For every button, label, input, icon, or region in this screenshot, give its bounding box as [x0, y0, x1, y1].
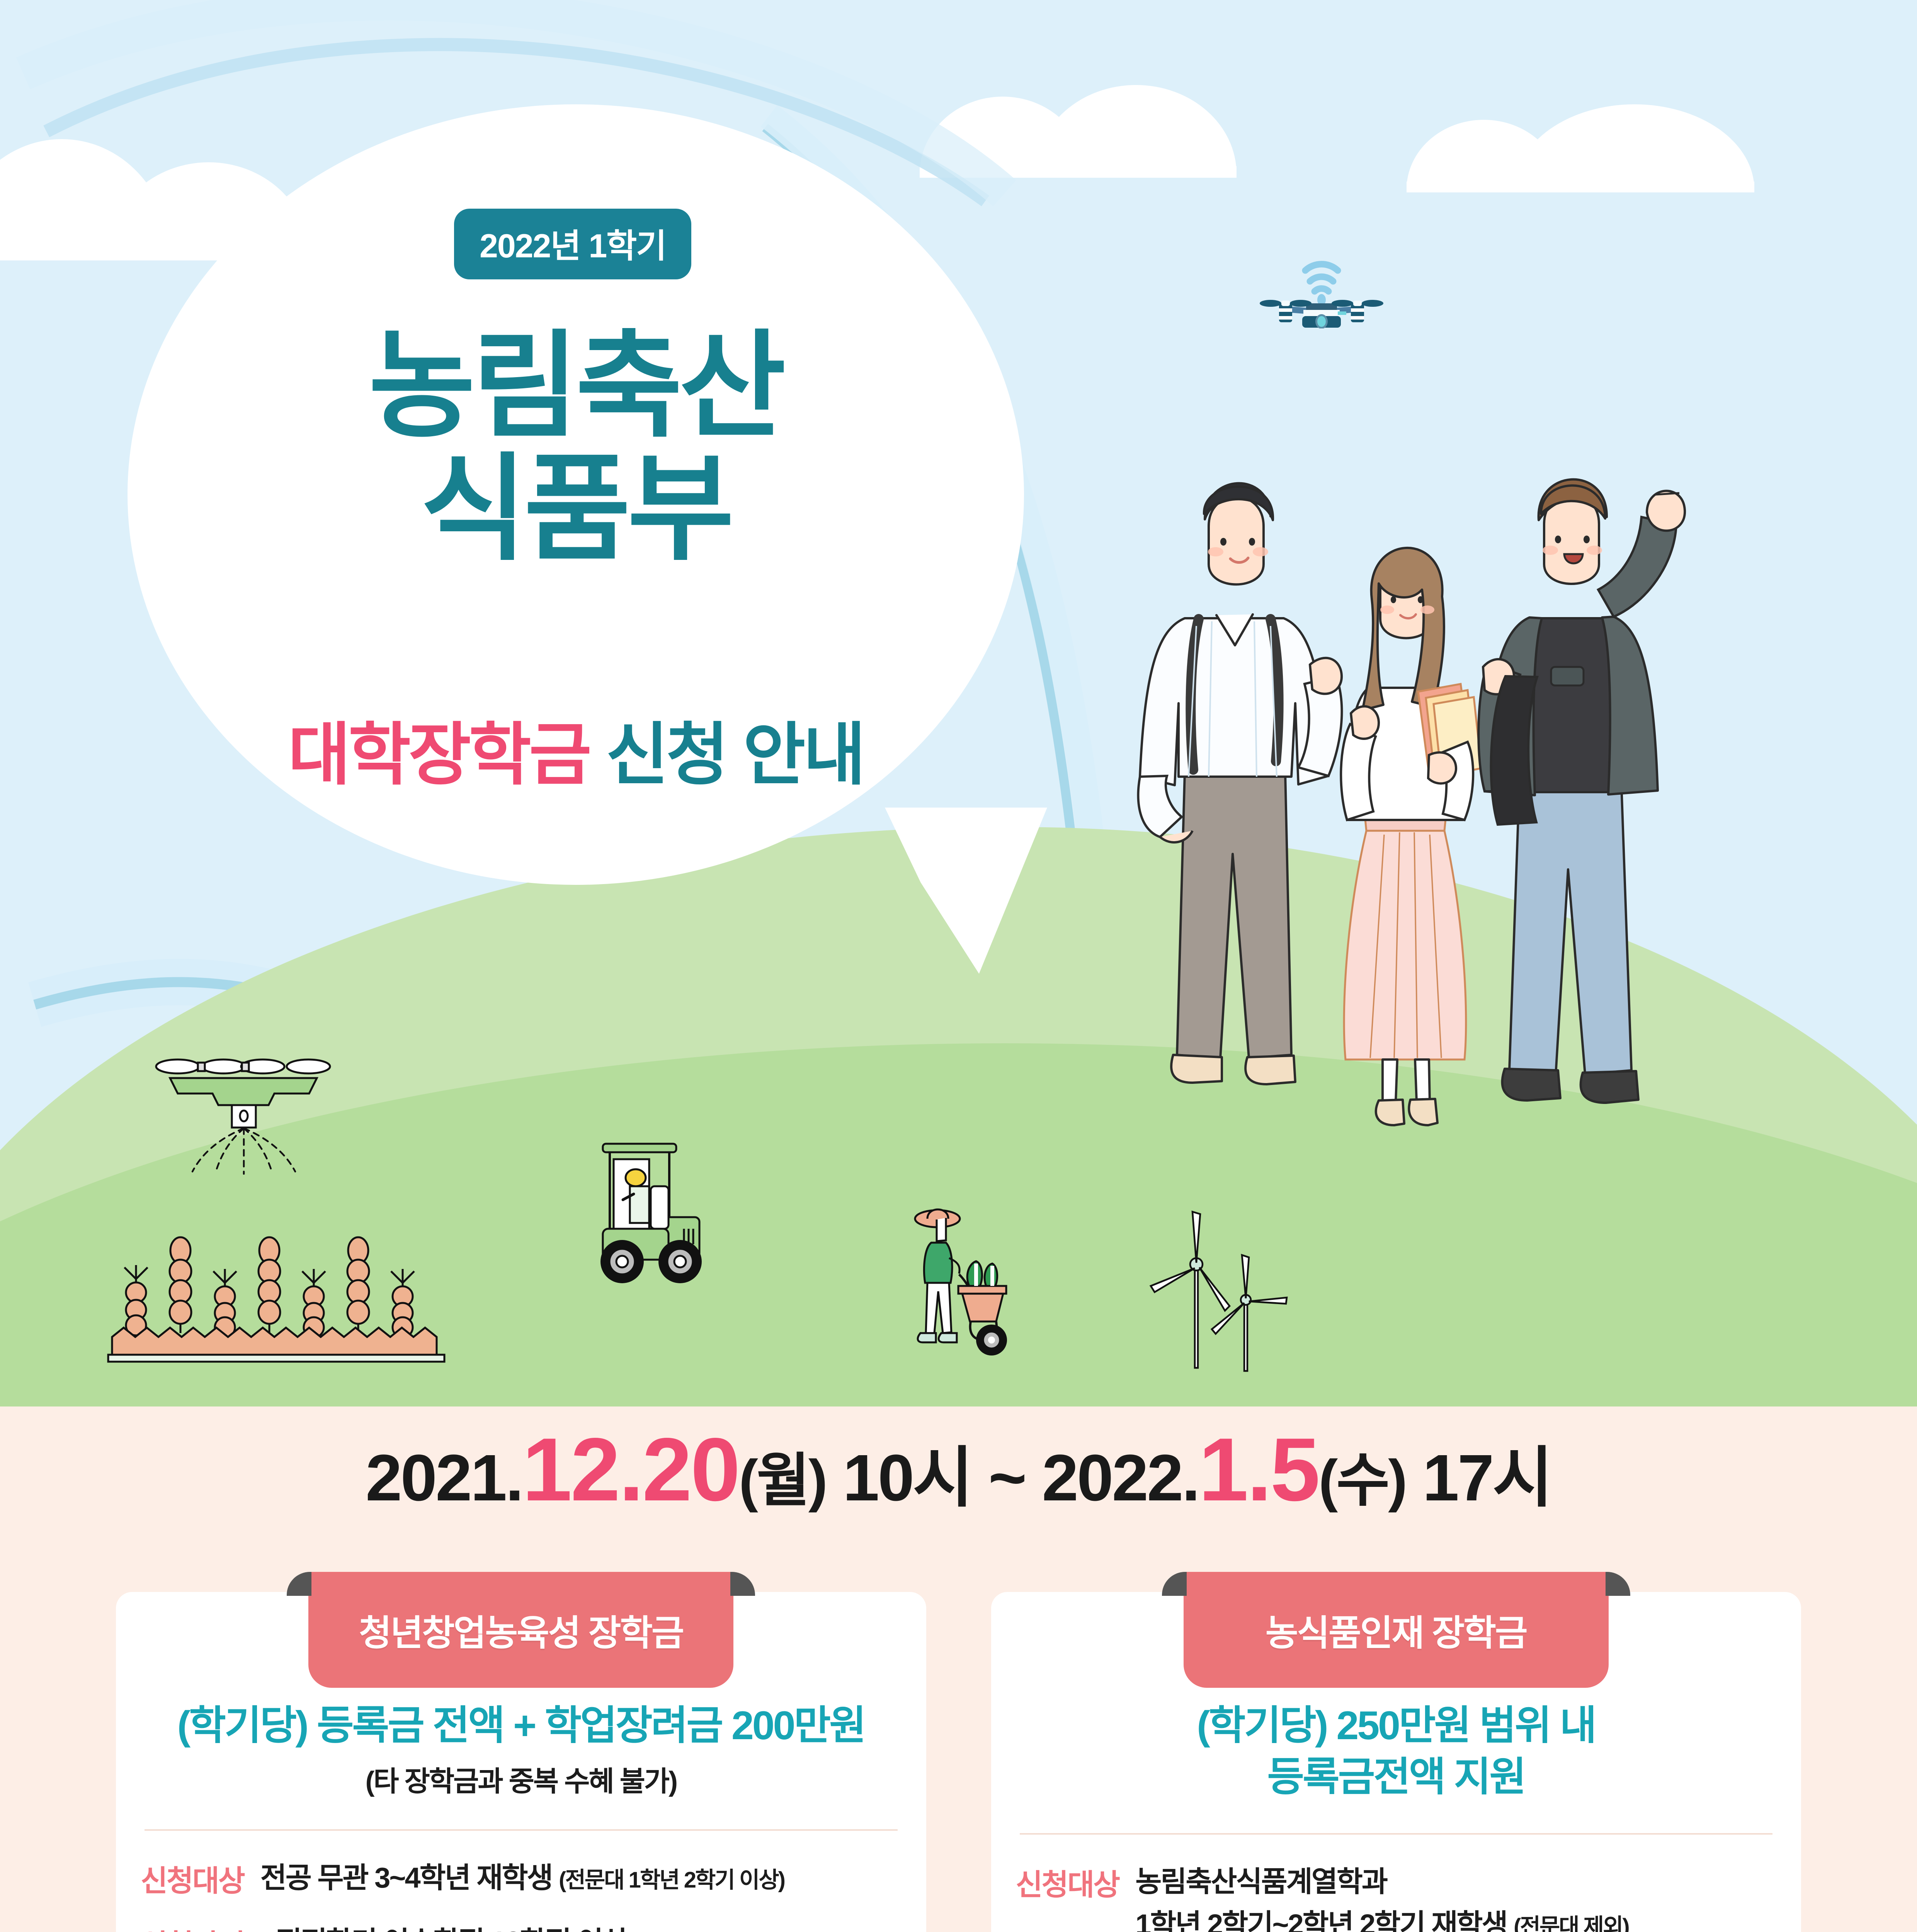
page-subtitle-guide: 신청 안내 [606, 717, 864, 793]
card-amount-note: (타 장학금과 중복 수혜 불가) [141, 1759, 902, 1799]
detail-row-body: 전공 무관 3~4학년 재학생 (전문대 1학년 2학기 이상) [260, 1856, 902, 1899]
application-period: 2021.12.20(월) 10시 ~ 2022.1.5(수) 17시 [0, 1418, 1917, 1521]
detail-row: 신청대상 농림축산식품계열학과 1학년 2학기~2학년 2학기 재학생 (전문대… [1016, 1860, 1777, 1932]
page-title: 농림축산 식품부 [0, 325, 1152, 570]
detail-bullet-list: 직전학기 이수학점 12학점 이상 성적 70점 이상인 만 40세 미만인 자 [260, 1920, 902, 1932]
detail-note: (전문대 제외) [1514, 1914, 1629, 1932]
detail-row-body: 농림축산식품계열학과 1학년 2학기~2학년 2학기 재학생 (전문대 제외) [1135, 1860, 1776, 1932]
card-amount: (학기당) 등록금 전액 + 학업장려금 200만원 [141, 1700, 902, 1752]
page-subtitle-scholarship: 대학장학금 [288, 717, 589, 793]
scholarship-card-agrifood-talent: 농식품인재 장학금 (학기당) 250만원 범위 내 등록금전액 지원 신청대상… [991, 1592, 1801, 1932]
detail-text: 농림축산식품계열학과 1학년 2학기~2학년 2학기 재학생 [1135, 1866, 1514, 1932]
card-detail-rows: 신청대상 전공 무관 3~4학년 재학생 (전문대 1학년 2학기 이상) 신청… [141, 1856, 902, 1932]
end-year: 2022. [1042, 1441, 1198, 1515]
detail-row-label: 신청대상 [141, 1856, 244, 1900]
farmer-with-cart-icon [900, 1186, 1063, 1379]
spray-drone-icon [147, 1051, 363, 1175]
detail-note: (전문대 1학년 2학기 이상) [559, 1867, 784, 1893]
start-weekday: (월) [739, 1448, 826, 1513]
page-title-line1: 농림축산 [0, 325, 1152, 447]
period-tilde: ~ [972, 1441, 1042, 1515]
detail-row: 신청자격 직전학기 이수학점 12학점 이상 성적 70점 이상인 만 40세 … [141, 1920, 902, 1932]
drone-icon [1248, 224, 1395, 328]
detail-text: 전공 무관 3~4학년 재학생 [260, 1862, 559, 1894]
page-subtitle: 대학장학금 신청 안내 [0, 699, 1152, 798]
start-time: 10시 [843, 1441, 972, 1515]
hero-section: 2022년 1학기 농림축산 식품부 대학장학금 신청 안내 [0, 0, 1917, 1406]
three-students-illustration [1117, 437, 1743, 1171]
page-title-line2: 식품부 [0, 447, 1152, 570]
detail-row: 신청대상 전공 무관 3~4학년 재학생 (전문대 1학년 2학기 이상) [141, 1856, 902, 1900]
end-date: 1.5 [1199, 1420, 1319, 1520]
card-divider [145, 1829, 898, 1831]
start-year: 2021. [366, 1441, 522, 1515]
card-ribbon-title: 청년창업농육성 장학금 [308, 1572, 733, 1688]
detail-row-body: 직전학기 이수학점 12학점 이상 성적 70점 이상인 만 40세 미만인 자 [260, 1920, 902, 1932]
card-detail-rows: 신청대상 농림축산식품계열학과 1학년 2학기~2학년 2학기 재학생 (전문대… [1016, 1860, 1777, 1932]
start-date: 12.20 [522, 1420, 739, 1520]
wind-turbine-icon [1148, 1206, 1294, 1379]
card-amount: (학기당) 250만원 범위 내 등록금전액 지원 [1016, 1700, 1777, 1803]
end-time: 17시 [1422, 1441, 1551, 1515]
wheat-field-icon [104, 1213, 452, 1376]
detail-row-label: 신청대상 [1016, 1860, 1119, 1903]
card-ribbon-title: 농식품인재 장학금 [1184, 1572, 1609, 1688]
scholarship-card-youth-startup: 청년창업농육성 장학금 (학기당) 등록금 전액 + 학업장려금 200만원 (… [116, 1592, 926, 1932]
scholarship-cards: 청년창업농육성 장학금 (학기당) 등록금 전액 + 학업장려금 200만원 (… [116, 1592, 1801, 1932]
semester-badge: 2022년 1학기 [454, 209, 691, 279]
list-item: 직전학기 이수학점 12학점 이상 [260, 1920, 902, 1932]
tractor-icon [553, 1132, 715, 1294]
detail-row-label: 신청자격 [141, 1920, 244, 1932]
end-weekday: (수) [1318, 1448, 1406, 1513]
card-divider [1020, 1833, 1773, 1835]
